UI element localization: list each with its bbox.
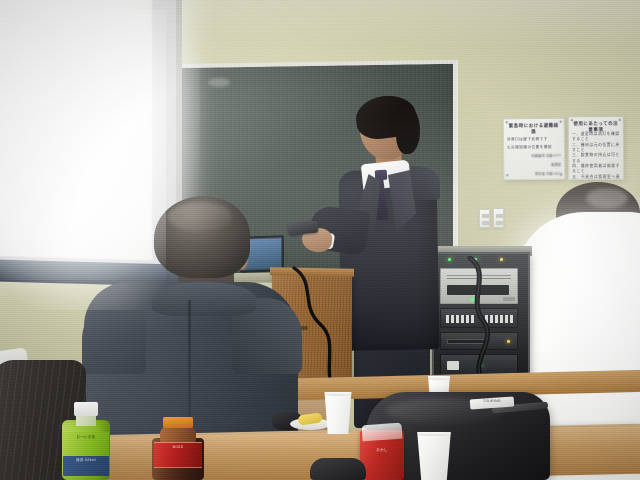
notice-line: 三、飲食物の持込は可とする (572, 153, 620, 164)
green-tea-bottle: お～いお茶 緑茶 525ml (62, 404, 110, 480)
notice-line: 火災報知機の位置を確認 (507, 145, 561, 151)
red-snack-wrapper (361, 423, 402, 442)
notice-contact-value: 内線 9777 (546, 154, 561, 158)
tea-bottle-cap[interactable] (74, 402, 98, 416)
cup-rim (322, 392, 354, 396)
av-rack-cable (462, 256, 502, 376)
wall-outlet-plate-right[interactable] (493, 208, 504, 228)
notice-line: 非常口は廊下北側です (507, 137, 561, 143)
lecture-room-photo: 緊急時における避難経路 非常口は廊下北側です 火災報知機の位置を確認 内線番号 … (0, 0, 640, 480)
outlet-socket-icon[interactable] (496, 221, 503, 225)
coffee-bottle: BOSS (150, 418, 206, 480)
rack-unit-led (507, 340, 510, 343)
attendee-hair-highlight (168, 202, 232, 232)
attendee-shoulder-left (82, 304, 146, 374)
notice-contact-value: 管理室 (551, 163, 561, 167)
wall-switch-plate-left[interactable] (479, 209, 490, 228)
notice-contact-row: 責任者 内線 4312 (507, 171, 561, 176)
outlet-socket-icon[interactable] (496, 214, 503, 218)
attendee-jacket-collar (152, 282, 256, 316)
coffee-bottle-cap[interactable] (163, 417, 193, 428)
tea-label-main-text: お～いお茶 (66, 435, 106, 439)
switch-rocker-icon[interactable] (482, 214, 489, 218)
notice-title: 緊急時における避難経路 (507, 123, 561, 135)
coffee-bottle-shoulder (160, 426, 196, 442)
notice-line: 一、退室時は消灯を確認すること (572, 132, 620, 143)
notice-sheet-left: 緊急時における避難経路 非常口は廊下北側です 火災報知機の位置を確認 内線番号 … (503, 118, 566, 181)
red-snack-label-text: おかし (363, 448, 401, 452)
notice-line: 五、不具合は管理室へ連絡する (572, 174, 620, 180)
seated-attendee-center (82, 196, 302, 448)
notice-contact-value: 内線 4312 (546, 171, 561, 175)
attendee-right-hair-highlight (586, 188, 628, 208)
notice-contact-label: 責任者 (535, 171, 545, 175)
black-case-front (310, 458, 366, 480)
tea-label-band-text: 緑茶 525ml (66, 458, 106, 462)
black-bag-label-text: TOURING (472, 399, 512, 403)
rack-unit-knob[interactable] (503, 297, 515, 301)
cup-rim (414, 432, 454, 436)
presenter-hair-back (396, 106, 420, 154)
notice-contact-row: 内線番号 内線 9777 (507, 154, 561, 159)
notice-contact-row: 管理室 (507, 163, 561, 168)
notice-contact-label: 内線番号 (531, 154, 545, 158)
notice-line: 四、最終使用者は施錠すること (572, 164, 620, 175)
chalk-smudge (208, 78, 230, 87)
switch-rocker-icon[interactable] (482, 221, 489, 225)
cup-rim (426, 376, 452, 380)
notice-sheet-right: 使用にあたっての注意事項 一、退室時は消灯を確認すること 二、機材は元の位置に戻… (568, 116, 624, 180)
coffee-label-text: BOSS (157, 445, 199, 449)
notice-title: 使用にあたっての注意事項 (572, 121, 620, 133)
